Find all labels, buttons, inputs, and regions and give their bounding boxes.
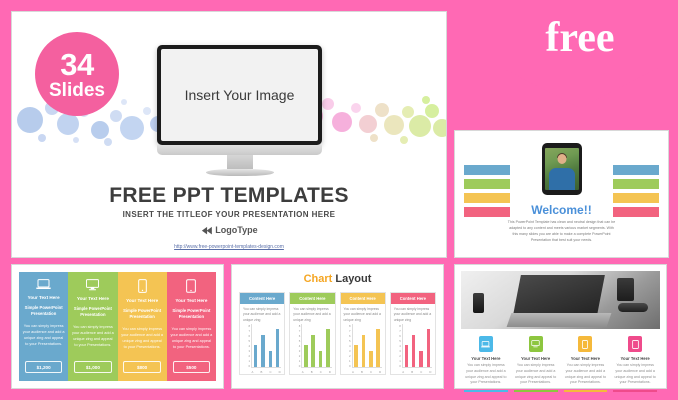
bar-a (254, 345, 258, 367)
chart-card-body: You can simply impress your audience and… (341, 304, 385, 324)
logotype-label: LogoType (215, 225, 257, 235)
bar-b (362, 335, 366, 367)
feature-rule (564, 390, 608, 392)
laptop-icon (36, 279, 51, 290)
bar-group (251, 324, 281, 368)
feature-item[interactable]: Your Text Here You can simply impress yo… (610, 336, 660, 392)
feature-row: Your Text Here You can simply impress yo… (461, 336, 660, 392)
x-axis-labels: ABCD (341, 370, 385, 374)
monitor-icon (529, 336, 543, 352)
person-photo (545, 148, 579, 190)
chart-card[interactable]: Content Here You can simply impress your… (340, 292, 386, 375)
bar-group (402, 324, 432, 368)
bar-c (419, 351, 423, 367)
pricing-column[interactable]: Your Text Here Simple PowerPoint Present… (68, 272, 117, 381)
pricing-price[interactable]: $1,200 (25, 361, 62, 373)
chart-card-row: Content Here You can simply impress your… (239, 292, 436, 375)
bar-b (261, 335, 265, 367)
tablet-mockup (542, 143, 582, 195)
chart-card-body: You can simply impress your audience and… (391, 304, 435, 324)
pricing-heading: Your Text Here (175, 298, 207, 303)
logotype: ◀◀LogoType (12, 225, 446, 236)
feature-item[interactable]: Your Text Here You can simply impress yo… (461, 336, 511, 392)
logo-mark-icon: ◀◀ (202, 225, 212, 236)
chart-layout-title: Chart Layout (239, 273, 436, 285)
pricing-body: You can simply impress your audience and… (22, 323, 65, 347)
welcome-bar-blue (613, 165, 659, 175)
pricing-subheading: Simple PowerPoint Presentation (22, 305, 65, 318)
bar-c (319, 351, 323, 367)
person-torso (549, 168, 575, 190)
person-head (557, 154, 566, 164)
insert-image-placeholder[interactable]: Insert Your Image (161, 49, 318, 141)
pricing-subheading: Simple PowerPoint Presentation (71, 306, 114, 319)
pricing-price[interactable]: $1,000 (74, 361, 111, 373)
feature-heading: Your Text Here (464, 356, 508, 361)
bar-chart: 876543210 (391, 324, 435, 370)
feature-heading: Your Text Here (514, 356, 558, 361)
bar-a (405, 345, 409, 367)
bar-b (412, 335, 416, 367)
chart-card-header: Content Here (290, 293, 334, 304)
feature-item[interactable]: Your Text Here You can simply impress yo… (561, 336, 611, 392)
feature-rule (464, 390, 508, 392)
monitor-mockup: Insert Your Image (157, 45, 322, 176)
tablet-icon (186, 279, 196, 293)
tablet-icon (628, 336, 642, 352)
welcome-bar-blue (464, 165, 510, 175)
chart-card-body: You can simply impress your audience and… (240, 304, 284, 324)
bar-d (326, 329, 330, 367)
monitor-neck (227, 155, 253, 169)
chart-layout-slide[interactable]: Chart Layout Content Here You can simply… (231, 264, 444, 389)
laptop-keyboard (506, 313, 610, 327)
x-axis-labels: ABCD (290, 370, 334, 374)
feature-item[interactable]: Your Text Here You can simply impress yo… (511, 336, 561, 392)
coffee-mug (617, 278, 634, 301)
feature-body: You can simply impress your audience and… (613, 363, 657, 386)
y-axis-ticks: 876543210 (394, 324, 402, 368)
eyeglasses (618, 303, 648, 312)
chart-title-accent: Chart (304, 273, 333, 285)
chart-card-header: Content Here (391, 293, 435, 304)
chart-card[interactable]: Content Here You can simply impress your… (289, 292, 335, 375)
template-preview-stage: 34 Slides Insert Your Image FREE PPT TEM… (0, 0, 678, 400)
hero-subtitle: INSERT THE TITLEOF YOUR PRESENTATION HER… (12, 210, 446, 219)
bar-c (369, 351, 373, 367)
x-axis-labels: ABCD (240, 370, 284, 374)
feature-body: You can simply impress your audience and… (564, 363, 608, 386)
chart-card-header: Content Here (240, 293, 284, 304)
bar-c (269, 351, 273, 367)
feature-rule (514, 390, 558, 392)
bar-b (311, 335, 315, 367)
welcome-bar-yellow (464, 193, 510, 203)
feature-body: You can simply impress your audience and… (514, 363, 558, 386)
phone-icon (138, 279, 147, 293)
y-axis-ticks: 876543210 (344, 324, 352, 368)
hero-slide[interactable]: 34 Slides Insert Your Image FREE PPT TEM… (11, 11, 447, 258)
desk-photo (461, 271, 660, 329)
bar-chart: 876543210 (290, 324, 334, 370)
welcome-title: Welcome!! (455, 203, 668, 217)
feature-body: You can simply impress your audience and… (464, 363, 508, 386)
hero-url-link[interactable]: http://www.free-powerpoint-templates-des… (12, 244, 446, 250)
bar-d (376, 329, 380, 367)
pricing-price[interactable]: $500 (173, 361, 210, 373)
phone-object (473, 293, 484, 313)
bar-group (352, 324, 382, 368)
slide-count-label: Slides (49, 81, 105, 100)
chart-card[interactable]: Content Here You can simply impress your… (390, 292, 436, 375)
pricing-slide[interactable]: Your Text Here Simple PowerPoint Present… (11, 264, 224, 389)
x-axis-labels: ABCD (391, 370, 435, 374)
pricing-price[interactable]: $800 (123, 361, 160, 373)
monitor-base (206, 169, 274, 176)
monitor-chin (157, 145, 322, 155)
free-ribbon: free (500, 0, 660, 108)
bar-chart: 876543210 (341, 324, 385, 370)
chart-title-rest: Layout (332, 273, 371, 285)
bar-a (304, 345, 308, 367)
bar-group (301, 324, 331, 368)
welcome-bar-green (464, 179, 510, 189)
photo-features-slide[interactable]: Your Text Here You can simply impress yo… (454, 264, 667, 389)
chart-card[interactable]: Content Here You can simply impress your… (239, 292, 285, 375)
pricing-subheading: Simple PowerPoint Presentation (170, 308, 213, 321)
chart-card-body: You can simply impress your audience and… (290, 304, 334, 324)
pricing-heading: Your Text Here (77, 296, 109, 301)
welcome-body: This PowerPoint Template has clean and n… (507, 219, 616, 243)
laptop-icon (479, 336, 493, 352)
y-axis-ticks: 876543210 (293, 324, 301, 368)
pricing-body: You can simply impress your audience and… (71, 324, 114, 348)
phone-icon (578, 336, 592, 352)
pricing-heading: Your Text Here (28, 295, 60, 300)
pricing-column[interactable]: Your Text Here Simple PowerPoint Present… (167, 272, 216, 381)
welcome-bar-yellow (613, 193, 659, 203)
monitor-icon (85, 279, 100, 291)
feature-heading: Your Text Here (613, 356, 657, 361)
bar-d (427, 329, 431, 367)
slide-count-badge: 34 Slides (35, 32, 119, 116)
bar-d (276, 329, 280, 367)
y-axis-ticks: 876543210 (243, 324, 251, 368)
welcome-slide[interactable]: Welcome!! This PowerPoint Template has c… (454, 130, 669, 258)
welcome-bar-green (613, 179, 659, 189)
slide-count-number: 34 (60, 49, 93, 80)
pricing-column[interactable]: Your Text Here Simple PowerPoint Present… (19, 272, 68, 381)
laptop-screen (513, 275, 604, 315)
pricing-column[interactable]: Your Text Here Simple PowerPoint Present… (118, 272, 167, 381)
bar-a (354, 345, 358, 367)
pricing-body: You can simply impress your audience and… (170, 326, 213, 350)
monitor-bezel: Insert Your Image (157, 45, 322, 145)
pricing-body: You can simply impress your audience and… (121, 326, 164, 350)
feature-heading: Your Text Here (564, 356, 608, 361)
pricing-heading: Your Text Here (126, 298, 158, 303)
bar-chart: 876543210 (240, 324, 284, 370)
chart-card-header: Content Here (341, 293, 385, 304)
pricing-subheading: Simple PowerPoint Presentation (121, 308, 164, 321)
feature-rule (613, 390, 657, 392)
free-ribbon-label: free (545, 14, 614, 62)
hero-title: FREE PPT TEMPLATES (12, 184, 446, 208)
